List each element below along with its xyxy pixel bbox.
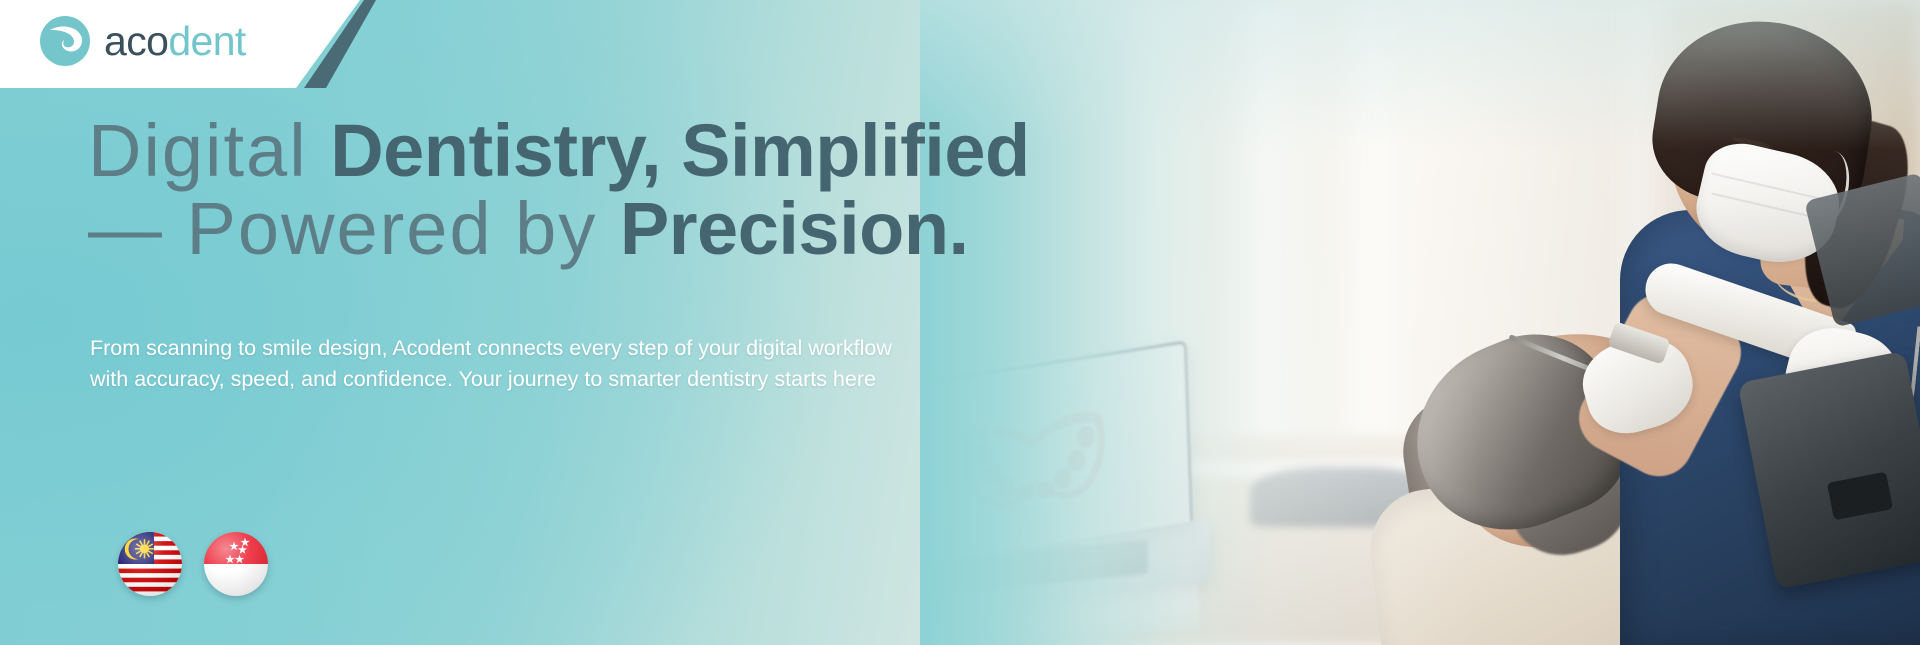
hero-photo [920,0,1920,645]
subcopy-line-1: From scanning to smile design, Acodent c… [90,333,1210,364]
flag-malaysia-icon [118,532,182,596]
flag-singapore-icon [204,532,268,596]
headline-line-1: Digital Dentistry, Simplified [88,112,1268,190]
headline-line-2-bold: Precision. [620,187,969,270]
headline-line-2-light: — Powered by [88,187,620,270]
acodent-swoosh-icon [40,16,90,66]
headline-line-1-light: Digital [88,109,330,192]
subcopy-line-2: with accuracy, speed, and confidence. Yo… [90,364,1210,395]
hero-banner: acodent Digital Dentistry, Simplified — … [0,0,1920,645]
brand-wordmark-aco: aco [104,18,168,64]
brand-logo[interactable]: acodent [40,16,246,66]
brand-wordmark: acodent [104,21,246,62]
headline-line-2: — Powered by Precision. [88,190,1268,268]
brand-wordmark-dent: dent [168,18,245,64]
region-flags [118,532,268,596]
flag-malaysia-button[interactable] [118,532,182,596]
hero-subcopy: From scanning to smile design, Acodent c… [90,333,1210,394]
hero-headline: Digital Dentistry, Simplified — Powered … [88,112,1268,269]
headline-line-1-bold: Dentistry, Simplified [330,109,1029,192]
flag-singapore-button[interactable] [204,532,268,596]
